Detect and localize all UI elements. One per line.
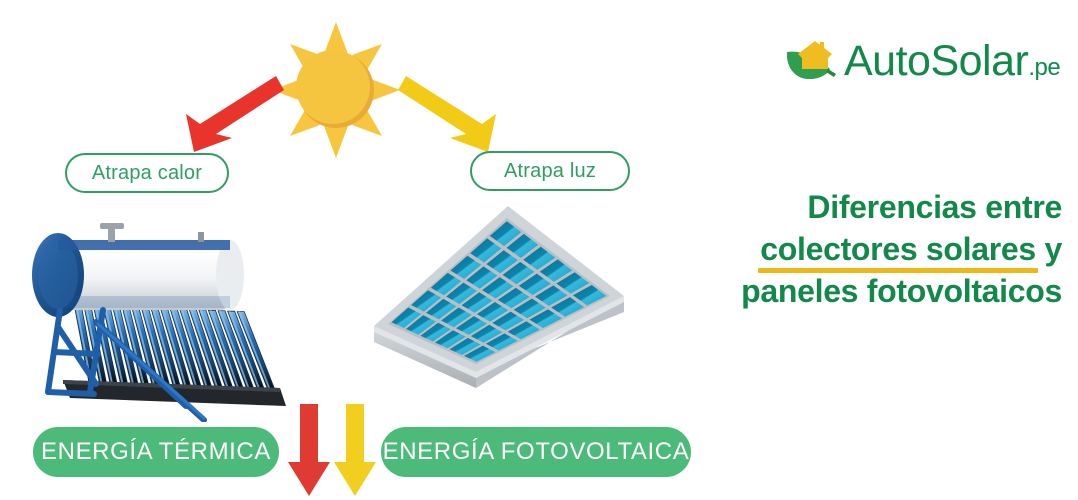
headline-underlined-phrase: colectores solares [760, 228, 1036, 270]
storage-tank [32, 223, 244, 317]
solar-thermal-collector [8, 192, 288, 422]
sun-icon [272, 22, 400, 158]
arrow-down-right-icon [398, 72, 510, 156]
autosolar-logo[interactable]: AutoSolar.pe [784, 30, 1054, 92]
headline-line-2: colectores solares y [690, 228, 1062, 270]
logo-tld: .pe [1028, 54, 1060, 81]
arrow-down-left-icon [172, 72, 284, 156]
pill-energia-termica[interactable]: ENERGÍA TÉRMICA [33, 427, 279, 477]
logo-name: AutoSolar [844, 37, 1028, 85]
headline-line-2-tail: y [1036, 231, 1062, 267]
arrow-down-icon-yellow [334, 404, 376, 496]
logo-wordmark: AutoSolar.pe [844, 40, 1060, 83]
headline-line-3: paneles fotovoltaicos [690, 270, 1062, 312]
page-title: Diferencias entre colectores solares y p… [690, 186, 1062, 313]
badge-atrapa-luz[interactable]: Atrapa luz [470, 151, 630, 191]
pill-energia-fotovoltaica[interactable]: ENERGÍA FOTOVOLTAICA [381, 427, 691, 477]
headline-line-1: Diferencias entre [690, 186, 1062, 228]
leaf-house-logo-icon [784, 38, 842, 84]
photovoltaic-panel [368, 192, 630, 392]
badge-atrapa-calor[interactable]: Atrapa calor [65, 153, 229, 193]
arrow-down-icon-red [288, 404, 330, 496]
infographic-canvas: AutoSolar.pe Diferencias entre colectore… [0, 0, 1078, 500]
